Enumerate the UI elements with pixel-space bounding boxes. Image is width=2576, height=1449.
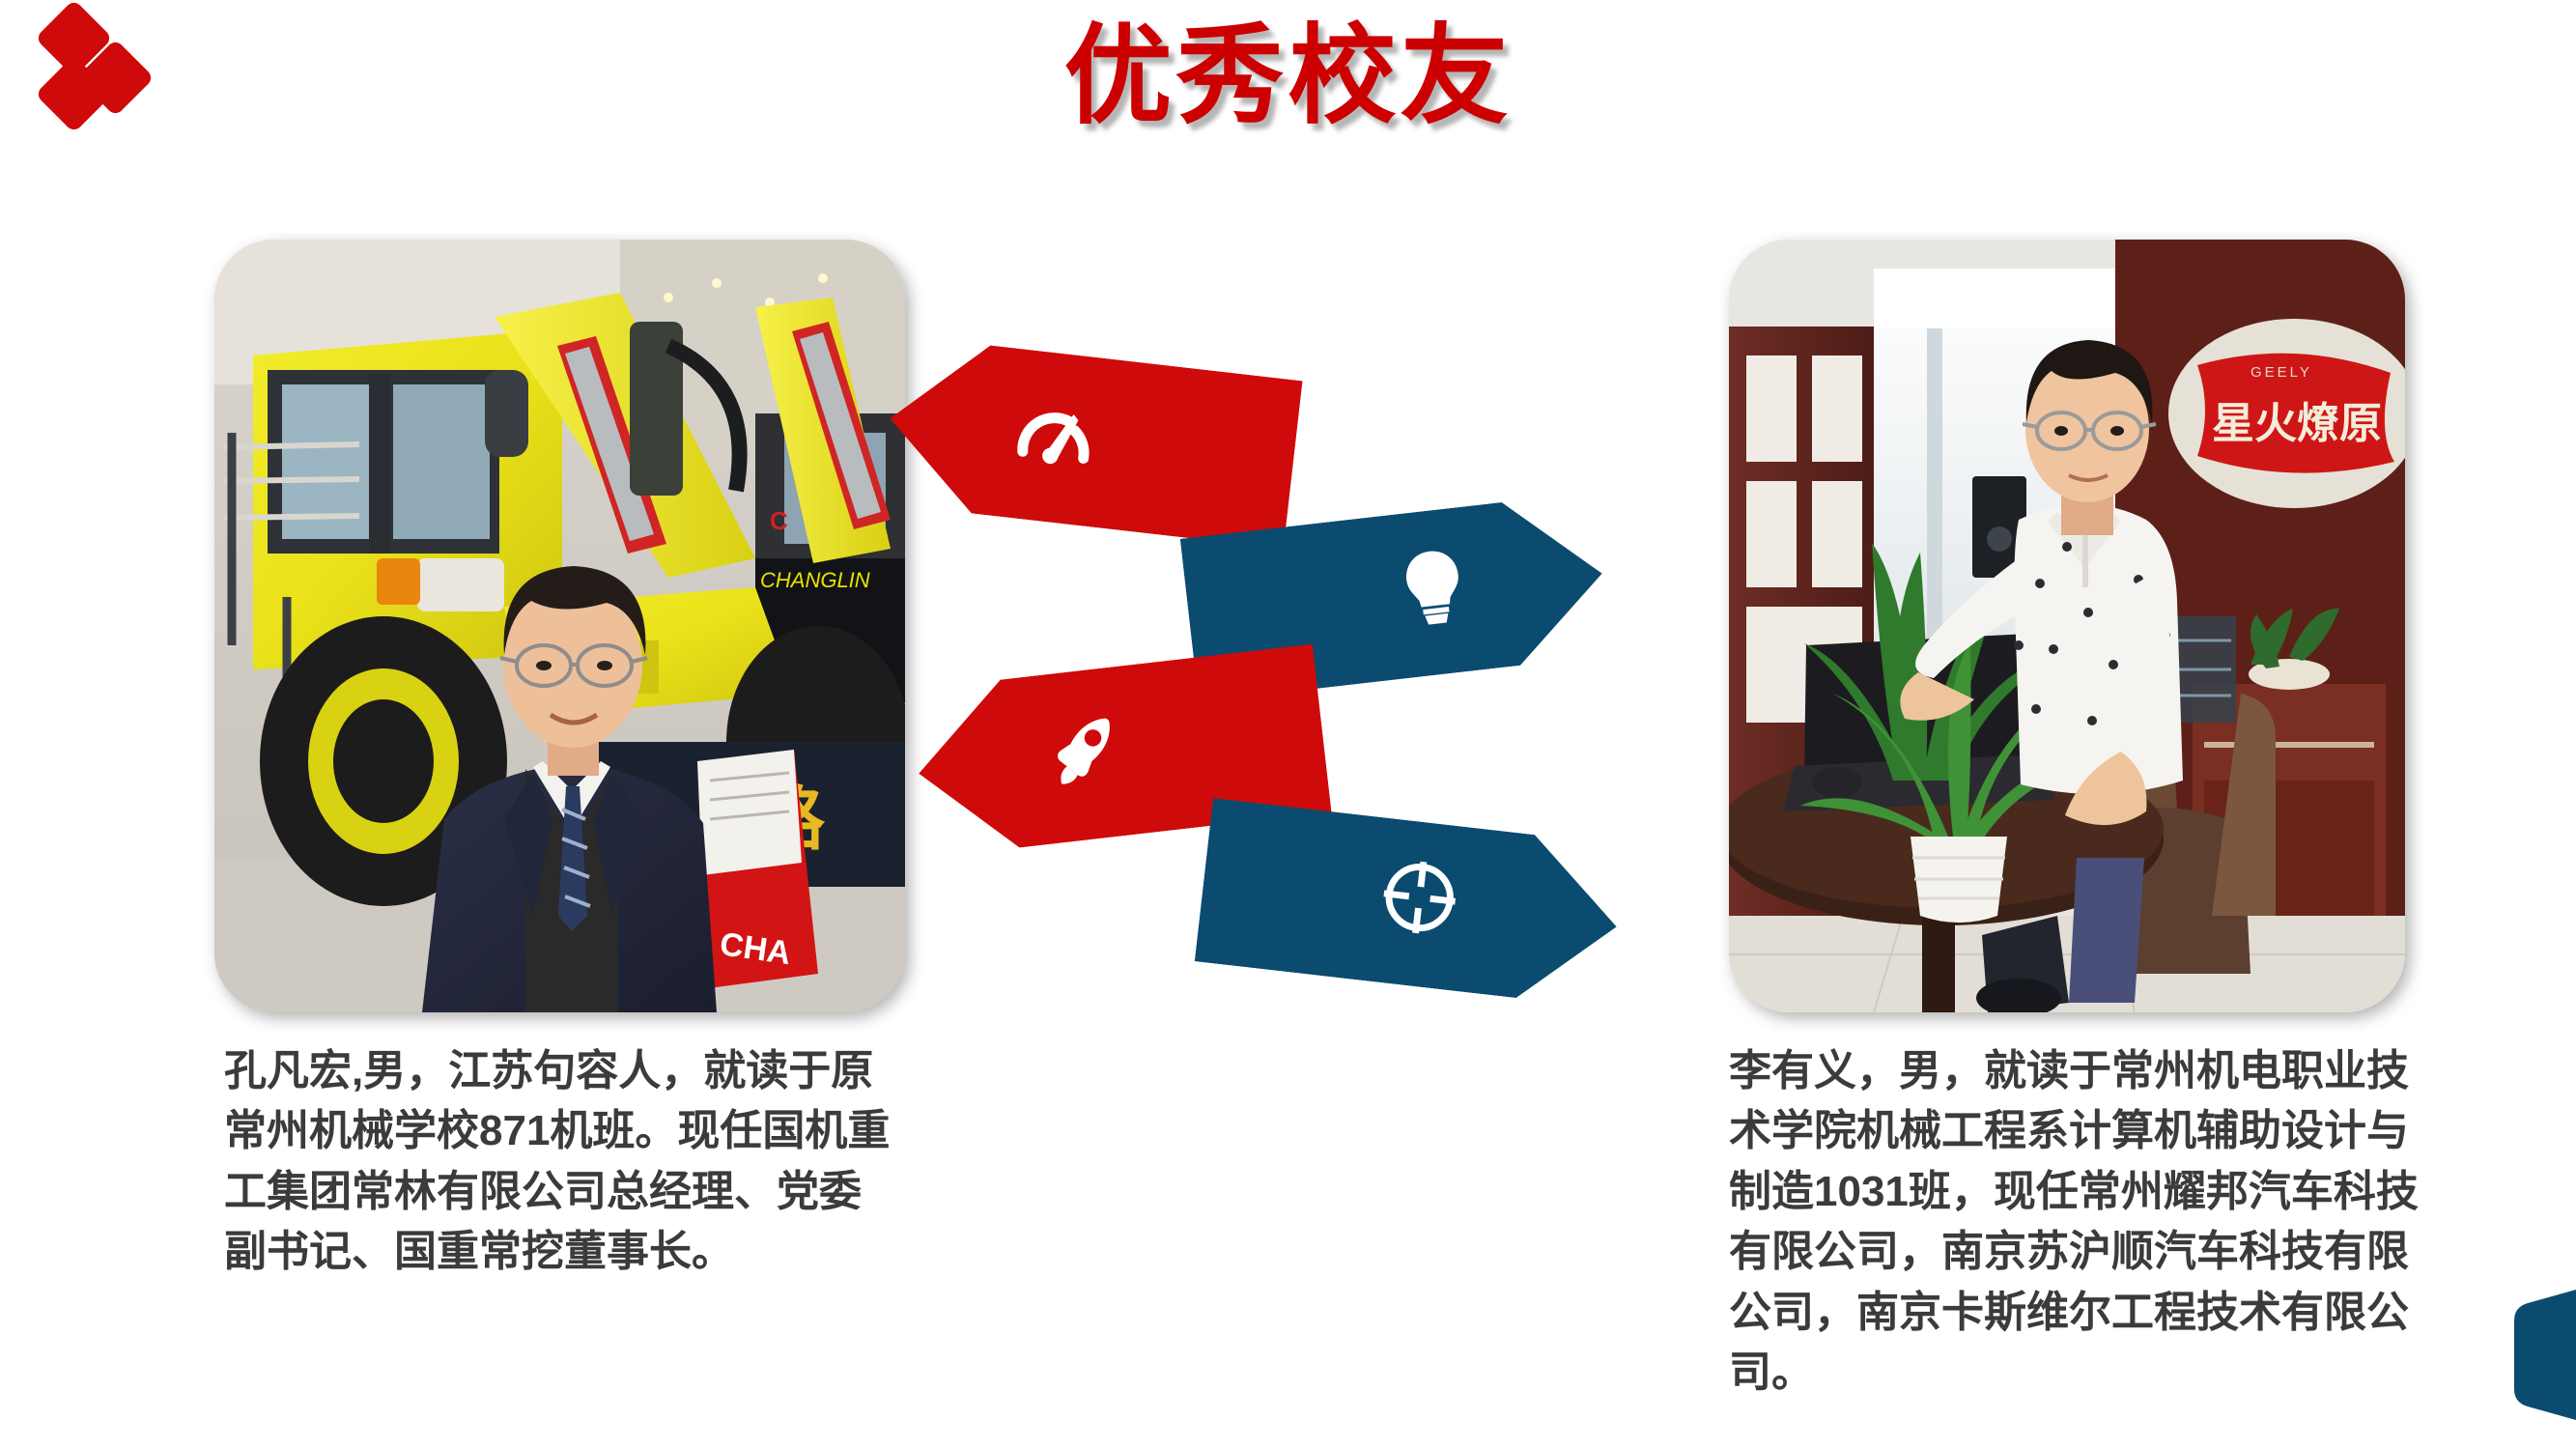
corner-tab-shape — [2508, 1290, 2576, 1420]
svg-text:CHANGLIN: CHANGLIN — [760, 568, 870, 592]
lightbulb-icon — [1387, 537, 1494, 644]
svg-text:C: C — [770, 506, 788, 535]
alumnus-caption-left: 孔凡宏,男，江苏句容人，就读于原常州机械学校871机班。现任国机重工集团常林有限… — [224, 1041, 900, 1283]
rocket-icon — [1040, 706, 1139, 805]
bottom-right-blue-tab — [2508, 1290, 2576, 1420]
speedometer-icon — [1007, 389, 1106, 488]
photo-left-illustration: C CHANGLIN — [214, 240, 905, 1012]
alumnus-photo-left: C CHANGLIN — [214, 240, 905, 1012]
alumnus-photo-right: GEELY 星火燎原 — [1729, 240, 2405, 1012]
svg-text:星火燎原: 星火燎原 — [2212, 400, 2382, 447]
photo-right-illustration: GEELY 星火燎原 — [1729, 240, 2405, 1012]
crosshair-target-icon — [1372, 850, 1479, 957]
page-title: 优秀校友 — [0, 14, 2576, 139]
slide-canvas: 优秀校友 — [0, 0, 2576, 1449]
alumnus-caption-right: 李有义，男，就读于常州机电职业技术学院机械工程系计算机辅助设计与制造1031班，… — [1729, 1041, 2420, 1404]
arrow-1-red-left[interactable] — [880, 335, 1302, 549]
svg-text:GEELY: GEELY — [2250, 364, 2312, 381]
arrow-infographic-group — [869, 357, 1603, 1034]
arrow-4-blue-right[interactable] — [1195, 798, 1626, 1009]
